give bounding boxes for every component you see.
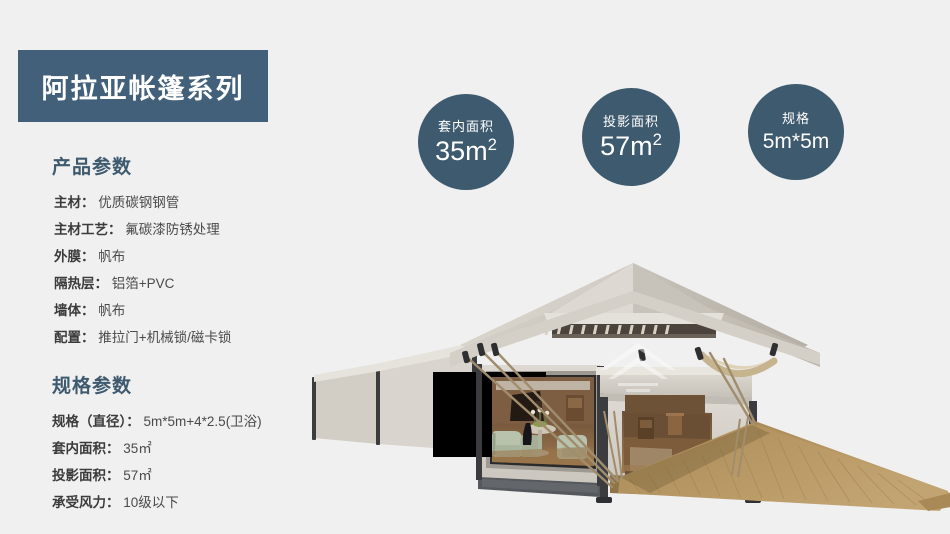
title-banner: 阿拉亚帐篷系列 <box>18 50 268 122</box>
badge-value: 5m*5m <box>763 129 830 152</box>
spec-value: 57㎡ <box>123 468 152 483</box>
spec-label: 墙体： <box>54 303 95 318</box>
spec-label: 投影面积： <box>52 468 120 483</box>
slide-canvas: 阿拉亚帐篷系列 产品参数 主材： 优质碳钢钢管 主材工艺： 氟碳漆防锈处理 外膜… <box>0 0 950 534</box>
spec-label: 承受风力： <box>52 495 120 510</box>
section-heading-product: 产品参数 <box>52 152 352 179</box>
spec-label: 主材工艺： <box>54 222 122 237</box>
badge-value: 35m2 <box>435 137 497 165</box>
spec-value: 铝箔+PVC <box>112 276 175 291</box>
spec-label: 配置： <box>54 330 95 345</box>
badge-label: 规格 <box>782 112 810 125</box>
spec-label: 主材： <box>54 195 95 210</box>
spec-value: 优质碳钢钢管 <box>98 195 179 210</box>
badge-value: 57m2 <box>600 132 662 160</box>
spec-value: 氟碳漆防锈处理 <box>125 222 220 237</box>
spec-label: 隔热层： <box>54 276 108 291</box>
badge-label: 套内面积 <box>438 120 494 133</box>
badge-interior-area: 套内面积 35m2 <box>418 94 514 190</box>
spec-row: 主材： 优质碳钢钢管 <box>54 189 352 216</box>
page-title: 阿拉亚帐篷系列 <box>42 67 245 106</box>
interior-lounge <box>492 377 594 466</box>
spec-label: 套内面积： <box>52 441 120 456</box>
spec-value: 35㎡ <box>123 441 152 456</box>
tent-render-svg <box>300 225 950 525</box>
badge-dimensions: 规格 5m*5m <box>748 84 844 180</box>
spec-label: 外膜： <box>54 249 95 264</box>
badge-label: 投影面积 <box>603 115 659 128</box>
spec-value: 10级以下 <box>123 495 179 510</box>
badge-projected-area: 投影面积 57m2 <box>582 88 680 186</box>
tent-illustration <box>300 225 950 525</box>
spec-value: 帆布 <box>98 249 125 264</box>
spec-label: 规格（直径）： <box>52 414 140 429</box>
spec-value: 5m*5m+4*2.5(卫浴) <box>144 414 262 429</box>
spec-value: 帆布 <box>98 303 125 318</box>
spec-value: 推拉门+机械锁/磁卡锁 <box>98 330 231 345</box>
